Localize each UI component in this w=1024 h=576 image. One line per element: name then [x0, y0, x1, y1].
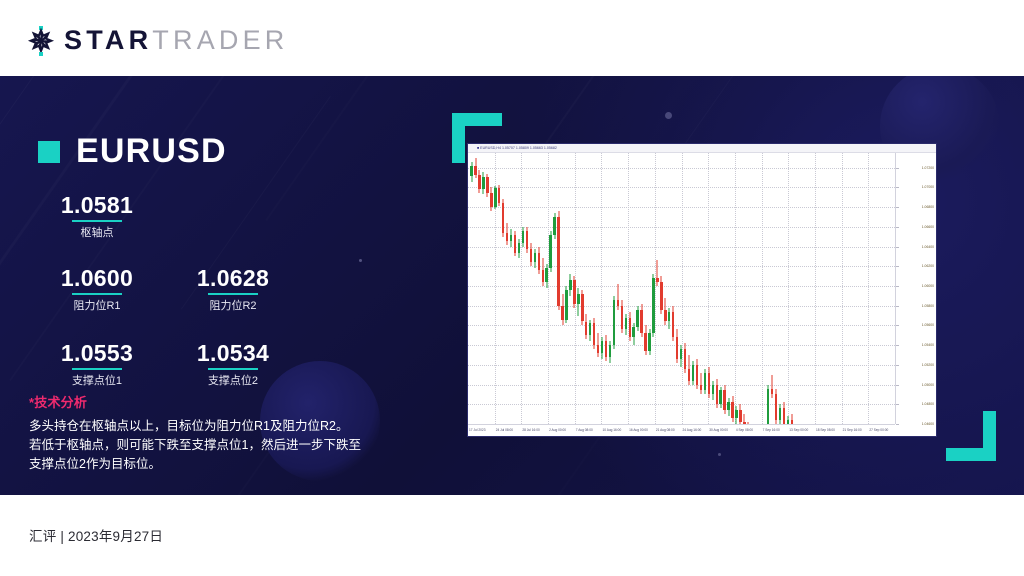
candlestick	[735, 406, 737, 424]
price-axis-tickmark	[896, 187, 899, 188]
candlestick	[534, 249, 536, 269]
candlestick	[581, 290, 583, 325]
candle-body	[712, 385, 714, 395]
price-axis-tick: 1.04600	[922, 422, 934, 426]
candlestick	[791, 414, 793, 424]
candle-body	[478, 175, 480, 190]
candle-wick	[657, 260, 658, 286]
stat-underline	[208, 368, 258, 370]
candlestick	[613, 296, 615, 349]
time-axis-tick: 7 Aug 08:00	[576, 428, 593, 432]
chart-gridline-vertical	[521, 153, 522, 424]
candlestick	[561, 294, 563, 326]
candle-body	[723, 390, 725, 410]
price-axis-tick: 1.07200	[922, 166, 934, 170]
candle-body	[613, 300, 615, 345]
chart-gridline-vertical	[601, 153, 602, 424]
candle-body	[545, 268, 547, 282]
stat-s2-value: 1.0534	[174, 339, 292, 367]
candlestick	[660, 276, 662, 313]
candlestick	[617, 284, 619, 310]
candlestick	[708, 367, 710, 399]
candlestick	[498, 185, 500, 207]
candle-body	[581, 294, 583, 322]
candle-body	[534, 253, 536, 263]
candlestick	[692, 361, 694, 385]
candlestick	[510, 229, 512, 247]
candlestick	[597, 333, 599, 357]
candle-body	[696, 365, 698, 385]
price-axis-tickmark	[896, 247, 899, 248]
candlestick	[636, 306, 638, 332]
candle-body	[676, 337, 678, 359]
chart-gridline-vertical	[735, 153, 736, 424]
candle-body	[585, 322, 587, 336]
candlestick	[542, 258, 544, 286]
candle-body	[636, 310, 638, 328]
time-axis-tick: 24 Aug 16:00	[683, 428, 702, 432]
candlestick	[731, 396, 733, 422]
candlestick	[601, 337, 603, 359]
chart-gridline-horizontal	[468, 227, 895, 228]
candle-body	[474, 166, 476, 175]
candle-body	[621, 306, 623, 330]
candlestick	[526, 227, 528, 253]
candle-body	[719, 390, 721, 404]
time-axis-tick: 18 Sep 08:00	[816, 428, 835, 432]
pivot-stats: 1.0581 枢轴点 1.0600 阻力位R1 1.0628 阻力位R2 1.0…	[38, 191, 368, 402]
candlestick	[569, 274, 571, 296]
price-axis-tick: 1.05200	[922, 363, 934, 367]
candle-body	[601, 341, 603, 353]
chart-gridline-vertical	[548, 153, 549, 424]
stat-s1: 1.0553 支撑点位1	[38, 339, 156, 388]
pair-marker-square	[38, 141, 60, 163]
candle-body	[561, 306, 563, 320]
stat-underline	[72, 220, 122, 222]
candle-body	[664, 310, 666, 322]
price-axis-tick: 1.07000	[922, 185, 934, 189]
candlestick	[589, 320, 591, 342]
price-axis-tickmark	[896, 424, 899, 425]
chart-gridline-vertical	[788, 153, 789, 424]
candlestick	[656, 260, 658, 286]
technical-analysis-line-3: 支撑点位2作为目标位。	[29, 455, 414, 474]
candlestick	[743, 414, 745, 424]
bg-dot	[718, 453, 721, 456]
candle-body	[775, 394, 777, 420]
chart-title-text: EURUSD,H4 1.05707 1.05809 1.05663 1.0568…	[480, 146, 557, 150]
chart-gridline-vertical	[842, 153, 843, 424]
price-axis-tick: 1.06400	[922, 245, 934, 249]
stat-s2: 1.0534 支撑点位2	[174, 339, 292, 388]
candlestick	[664, 298, 666, 326]
candle-body	[684, 349, 686, 369]
chart-gridline-horizontal	[468, 325, 895, 326]
candle-body	[565, 290, 567, 320]
candle-body	[783, 408, 785, 424]
chart-gridline-vertical	[868, 153, 869, 424]
chart-gridline-vertical	[682, 153, 683, 424]
time-axis-tick: 21 Sep 16:00	[843, 428, 862, 432]
candle-body	[482, 177, 484, 190]
candle-body	[704, 373, 706, 391]
candle-body	[716, 385, 718, 405]
price-axis-tickmark	[896, 306, 899, 307]
stat-r1-value: 1.0600	[38, 264, 156, 292]
candle-body	[688, 369, 690, 381]
candlestick	[478, 170, 480, 194]
brand-name-light: TRADER	[152, 25, 288, 55]
candlestick	[490, 187, 492, 211]
page-footer: 汇评 | 2023年9月27日	[0, 495, 1024, 576]
time-axis-tick: 21 Aug 08:00	[656, 428, 675, 432]
candlestick	[609, 341, 611, 363]
price-axis-tickmark	[896, 168, 899, 169]
candle-body	[644, 333, 646, 351]
candle-body	[779, 408, 781, 420]
bg-dot	[665, 112, 672, 119]
candle-body	[518, 243, 520, 253]
candlestick	[632, 323, 634, 345]
star-asterisk-icon: ✵	[27, 26, 55, 56]
candle-body	[490, 193, 492, 207]
chart-gridline-horizontal	[468, 385, 895, 386]
resistance-row: 1.0600 阻力位R1 1.0628 阻力位R2	[38, 264, 368, 327]
stat-s2-label: 支撑点位2	[174, 374, 292, 388]
price-axis-tick: 1.06800	[922, 205, 934, 209]
time-axis-tick: 7 Sep 16:00	[763, 428, 780, 432]
brand-name-bold: STAR	[64, 25, 152, 55]
bg-streak	[0, 76, 41, 214]
stat-s1-label: 支撑点位1	[38, 374, 156, 388]
candle-body	[692, 365, 694, 381]
candle-body	[597, 345, 599, 353]
stat-underline	[72, 368, 122, 370]
price-axis-tickmark	[896, 404, 899, 405]
logo-dot-bottom	[39, 52, 43, 56]
candlestick	[704, 369, 706, 395]
stat-underline	[208, 293, 258, 295]
candle-body	[569, 280, 571, 290]
candlestick	[502, 199, 504, 236]
candle-body	[648, 333, 650, 351]
chart-gridline-horizontal	[468, 404, 895, 405]
candlestick	[783, 402, 785, 424]
hero-stage: EURUSD 1.0581 枢轴点 1.0600 阻力位R1 1.0628 阻力…	[0, 76, 1024, 495]
pair-heading: EURUSD	[38, 132, 227, 171]
candlestick	[648, 329, 650, 355]
candle-wick	[617, 284, 618, 310]
price-axis-tickmark	[896, 286, 899, 287]
candlestick	[474, 158, 476, 178]
price-axis-tick: 1.05600	[922, 323, 934, 327]
stat-pivot-label: 枢轴点	[38, 226, 156, 240]
footer-caption: 汇评 | 2023年9月27日	[29, 525, 163, 545]
candlestick	[779, 404, 781, 424]
candlestick	[506, 223, 508, 245]
price-axis-tick: 1.05400	[922, 343, 934, 347]
price-axis-tickmark	[896, 345, 899, 346]
price-axis-tick: 1.05000	[922, 383, 934, 387]
stat-pivot: 1.0581 枢轴点	[38, 191, 156, 240]
time-axis-tick: 27 Sep 00:00	[869, 428, 888, 432]
candle-body	[593, 323, 595, 345]
candlestick	[486, 174, 488, 198]
price-axis-tickmark	[896, 266, 899, 267]
candlestick	[644, 325, 646, 355]
stat-r2-value: 1.0628	[174, 264, 292, 292]
candle-body	[731, 402, 733, 418]
chart-bullet-icon: ■	[477, 146, 479, 150]
candlestick	[625, 314, 627, 336]
candlestick	[629, 312, 631, 342]
chart-gridline-horizontal	[468, 187, 895, 188]
technical-analysis-line-2: 若低于枢轴点，则可能下跌至支撑点位1，然后进一步下跌至	[29, 436, 414, 455]
chart-gridline-vertical	[762, 153, 763, 424]
candlestick	[553, 213, 555, 239]
chart-gridline-vertical	[628, 153, 629, 424]
candle-wick	[772, 375, 773, 399]
chart-gridline-horizontal	[468, 168, 895, 169]
time-axis-tick: 30 Aug 00:00	[709, 428, 728, 432]
price-axis-tickmark	[896, 365, 899, 366]
stat-r1-label: 阻力位R1	[38, 299, 156, 313]
candle-body	[771, 389, 773, 395]
candle-body	[557, 217, 559, 306]
candle-body	[629, 318, 631, 338]
candle-body	[510, 235, 512, 241]
candlestick	[688, 355, 690, 385]
price-chart[interactable]: ■ EURUSD,H4 1.05707 1.05809 1.05663 1.05…	[467, 143, 937, 437]
time-axis-tick: 17 Jul 2023	[469, 428, 485, 432]
price-axis-tickmark	[896, 385, 899, 386]
candle-body	[656, 278, 658, 282]
time-axis-tick: 16 Aug 00:00	[629, 428, 648, 432]
candlestick	[470, 162, 472, 182]
candlestick	[771, 375, 773, 399]
candle-body	[526, 231, 528, 249]
stat-r1: 1.0600 阻力位R1	[38, 264, 156, 313]
corner-bracket-bottom-right	[946, 411, 996, 461]
time-axis-tick: 13 Sep 00:00	[789, 428, 808, 432]
candlestick	[676, 329, 678, 363]
candle-body	[538, 253, 540, 271]
page-header: ✵ STARTRADER	[0, 0, 1024, 76]
candle-body	[498, 188, 500, 203]
candle-body	[506, 233, 508, 241]
candlestick	[538, 247, 540, 275]
candle-body	[522, 231, 524, 243]
bg-streak	[680, 76, 761, 151]
candlestick	[716, 379, 718, 409]
time-axis-tick: 24 Jul 08:00	[496, 428, 513, 432]
candlestick	[739, 404, 741, 424]
candlestick	[668, 308, 670, 330]
pivot-row: 1.0581 枢轴点	[38, 191, 368, 254]
candle-body	[494, 188, 496, 207]
time-axis-tick: 28 Jul 16:00	[522, 428, 539, 432]
candle-body	[617, 300, 619, 306]
candlestick	[530, 243, 532, 267]
candlestick	[514, 231, 516, 257]
candle-body	[668, 312, 670, 322]
chart-gridline-horizontal	[468, 286, 895, 287]
candlestick	[577, 288, 579, 316]
candlestick	[605, 335, 607, 361]
candlestick	[723, 385, 725, 415]
stat-r2: 1.0628 阻力位R2	[174, 264, 292, 313]
chart-gridline-horizontal	[468, 266, 895, 267]
candle-body	[514, 235, 516, 253]
price-axis-tick: 1.06600	[922, 225, 934, 229]
candle-body	[625, 318, 627, 330]
candlestick	[522, 227, 524, 247]
chart-gridline-vertical	[815, 153, 816, 424]
candlestick	[482, 172, 484, 195]
price-axis-tickmark	[896, 207, 899, 208]
candle-body	[727, 402, 729, 410]
candlestick	[775, 389, 777, 424]
candlestick	[557, 211, 559, 310]
candle-body	[549, 235, 551, 269]
candle-body	[470, 166, 472, 176]
candlestick	[640, 304, 642, 338]
chart-gridline-horizontal	[468, 306, 895, 307]
stat-underline	[72, 293, 122, 295]
candlestick	[684, 343, 686, 373]
candlestick	[494, 186, 496, 210]
candlestick	[787, 416, 789, 424]
candlestick	[652, 274, 654, 337]
candle-body	[605, 341, 607, 357]
candlestick	[712, 381, 714, 401]
page-title: EURUSD	[76, 132, 227, 171]
stat-pivot-value: 1.0581	[38, 191, 156, 219]
candle-body	[486, 177, 488, 194]
chart-price-axis: 1.072001.070001.068001.066001.064001.062…	[895, 153, 936, 424]
price-axis-tickmark	[896, 325, 899, 326]
candlestick	[565, 286, 567, 323]
chart-gridline-horizontal	[468, 207, 895, 208]
brand-wordmark: STARTRADER	[64, 25, 289, 56]
candlestick	[545, 264, 547, 288]
technical-analysis-line-1: 多头持仓在枢轴点以上，目标位为阻力位R1及阻力位R2。	[29, 417, 414, 436]
candlestick	[585, 314, 587, 340]
brand-logo[interactable]: ✵ STARTRADER	[27, 25, 289, 56]
candle-body	[700, 385, 702, 391]
chart-gridline-vertical	[655, 153, 656, 424]
technical-analysis: *技术分析 多头持仓在枢轴点以上，目标位为阻力位R1及阻力位R2。 若低于枢轴点…	[29, 392, 414, 474]
candle-body	[739, 410, 741, 422]
candle-body	[652, 278, 654, 333]
candlestick	[518, 239, 520, 259]
candle-body	[632, 327, 634, 337]
candle-body	[680, 349, 682, 359]
candlestick	[719, 387, 721, 409]
candlestick	[573, 276, 575, 308]
candle-body	[553, 217, 555, 235]
price-axis-tick: 1.05800	[922, 304, 934, 308]
candlestick	[621, 300, 623, 334]
candlestick	[680, 345, 682, 367]
chart-plot-area[interactable]	[468, 153, 895, 424]
candle-body	[502, 203, 504, 233]
candle-body	[542, 270, 544, 282]
technical-analysis-title: *技术分析	[29, 392, 414, 411]
time-axis-tick: 2 Aug 00:00	[549, 428, 566, 432]
candle-body	[589, 323, 591, 335]
candlestick	[727, 398, 729, 416]
candle-body	[640, 310, 642, 334]
candle-body	[767, 389, 769, 424]
candlestick	[696, 359, 698, 389]
price-axis-tick: 1.06000	[922, 284, 934, 288]
price-axis-tick: 1.06200	[922, 264, 934, 268]
candle-body	[609, 345, 611, 357]
time-axis-tick: 4 Sep 08:00	[736, 428, 753, 432]
chart-title-bar: ■ EURUSD,H4 1.05707 1.05809 1.05663 1.05…	[468, 144, 936, 153]
candle-body	[577, 294, 579, 304]
candle-body	[708, 373, 710, 395]
candlestick	[593, 318, 595, 350]
candle-body	[530, 249, 532, 263]
stat-s1-value: 1.0553	[38, 339, 156, 367]
time-axis-tick: 10 Aug 16:00	[602, 428, 621, 432]
candlestick	[549, 231, 551, 272]
price-axis-tick: 1.04800	[922, 402, 934, 406]
candlestick	[767, 385, 769, 424]
chart-time-axis: 17 Jul 202324 Jul 08:0028 Jul 16:002 Aug…	[468, 424, 895, 436]
candle-body	[672, 312, 674, 338]
candle-body	[660, 282, 662, 310]
candle-body	[735, 410, 737, 418]
candlestick	[700, 373, 702, 395]
candlestick	[672, 306, 674, 341]
price-axis-tickmark	[896, 227, 899, 228]
candle-body	[573, 280, 575, 304]
stat-r2-label: 阻力位R2	[174, 299, 292, 313]
